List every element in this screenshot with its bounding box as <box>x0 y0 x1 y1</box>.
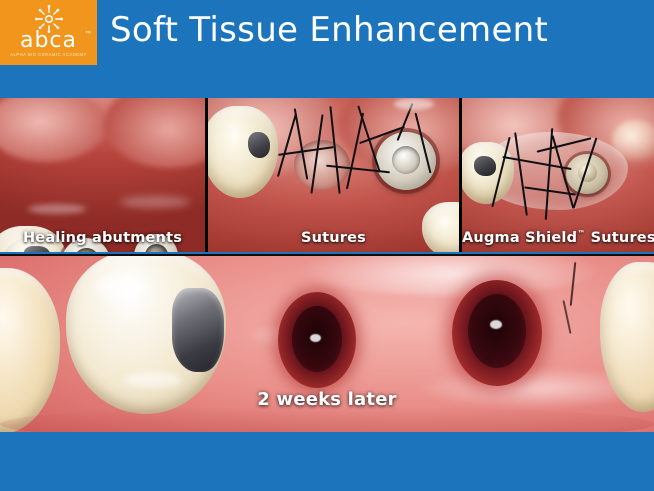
clinical-photo-sutures: Sutures <box>208 98 462 252</box>
caption-text-tail: Sutures <box>585 230 654 246</box>
logo-wordmark: abca <box>0 30 97 52</box>
header-band: abca ™ ALPHA BIO CERAMIC ACADEMY Soft Ti… <box>0 0 654 98</box>
footer-band <box>0 432 654 491</box>
caption-text-base: Augma Shield <box>462 230 577 246</box>
photo-caption: Sutures <box>208 230 459 246</box>
slide-root: abca ™ ALPHA BIO CERAMIC ACADEMY Soft Ti… <box>0 0 654 491</box>
logo-trademark-icon: ™ <box>85 31 91 37</box>
page-title: Soft Tissue Enhancement <box>110 8 548 52</box>
photo-caption: Healing abutments <box>0 230 205 246</box>
clinical-photo-healing-abutments: Healing abutments <box>0 98 208 252</box>
photo-strip: Healing abutments <box>0 98 654 252</box>
logo-tagline: ALPHA BIO CERAMIC ACADEMY <box>0 52 97 58</box>
logo-tile[interactable]: abca ™ ALPHA BIO CERAMIC ACADEMY <box>0 0 97 65</box>
photo-caption: Augma Shield™ Sutures <box>462 229 654 246</box>
photo-caption: 2 weeks later <box>0 389 654 410</box>
clinical-photo-two-weeks-later: 2 weeks later <box>0 254 654 432</box>
clinical-photo-augma-shield-sutures: Augma Shield™ Sutures <box>462 98 654 252</box>
